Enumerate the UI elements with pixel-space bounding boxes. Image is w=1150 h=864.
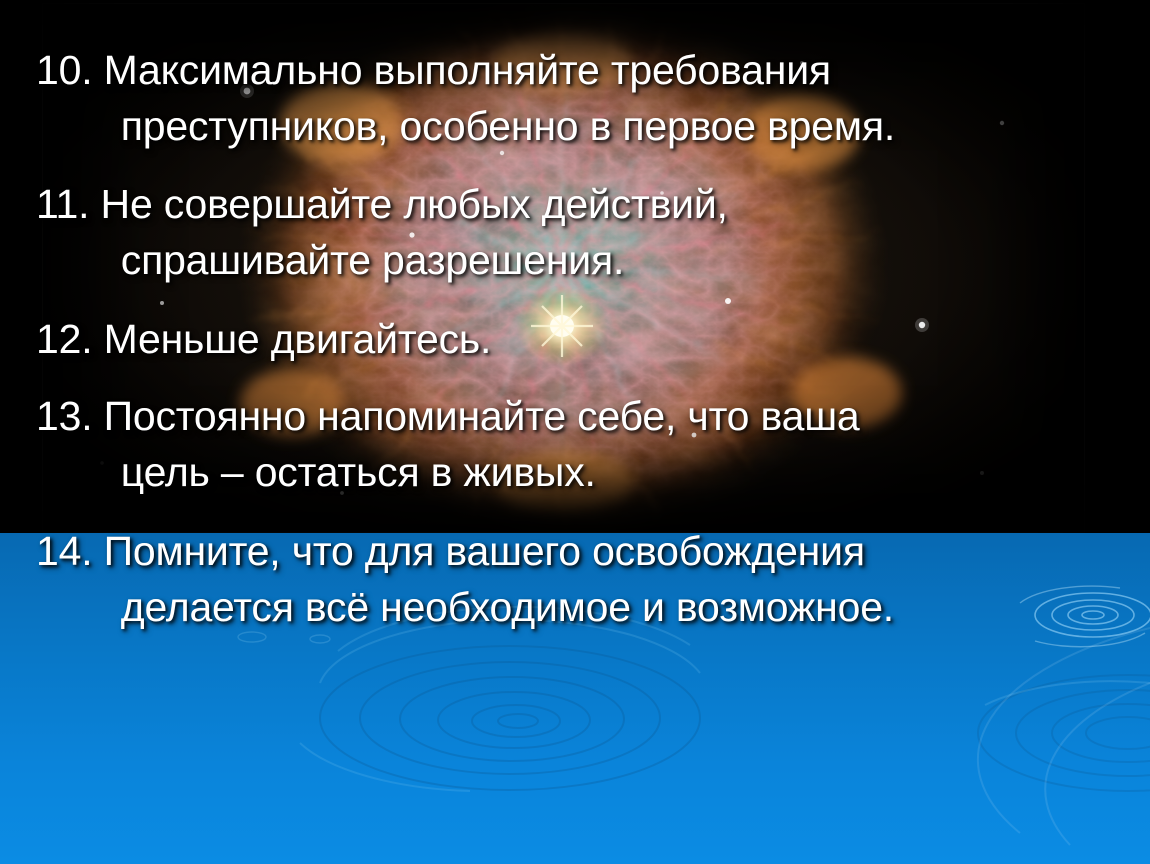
bullet-item-12: 12. Меньше двигайтесь. xyxy=(0,311,1150,367)
slide-canvas: 10. Максимально выполняйте требования пр… xyxy=(0,0,1150,864)
bullet-item-11: 11. Не совершайте любых действий, спраши… xyxy=(0,176,1150,288)
bullet-item-14: 14. Помните, что для вашего освобождения… xyxy=(0,523,1150,635)
bullet-item-10: 10. Максимально выполняйте требования пр… xyxy=(0,42,1150,154)
slide-body-text: 10. Максимально выполняйте требования пр… xyxy=(0,0,1150,864)
bullet-item-13: 13. Постоянно напоминайте себе, что ваша… xyxy=(0,388,1150,500)
